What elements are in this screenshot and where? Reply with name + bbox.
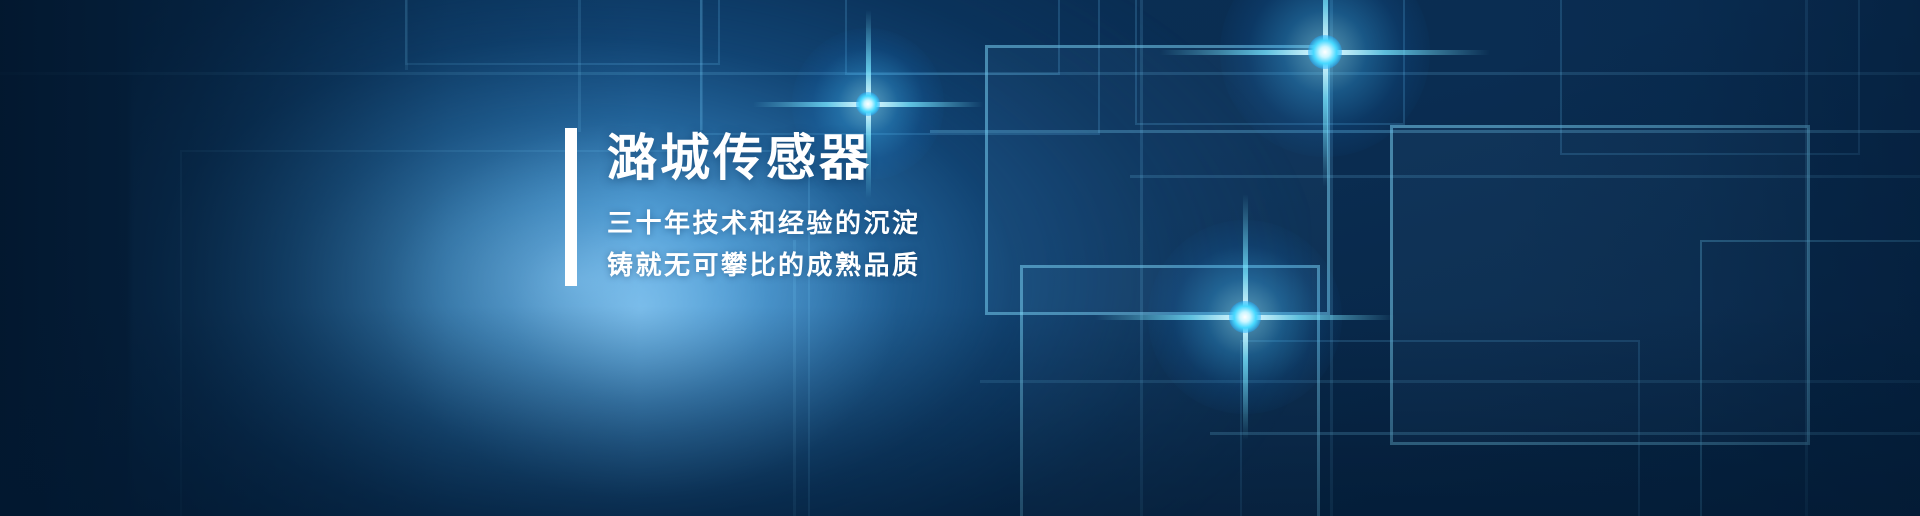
banner-subtitle-line-2: 铸就无可攀比的成熟品质 — [607, 244, 921, 286]
flare-ray-vertical — [1243, 194, 1248, 440]
banner-subtitle-line-1: 三十年技术和经验的沉淀 — [607, 202, 921, 244]
banner-copy: 潞城传感器 三十年技术和经验的沉淀 铸就无可攀比的成熟品质 — [607, 128, 921, 286]
hero-banner: 潞城传感器 三十年技术和经验的沉淀 铸就无可攀比的成熟品质 — [0, 0, 1920, 516]
banner-title: 潞城传感器 — [607, 130, 921, 186]
flare-ray-horizontal — [1095, 315, 1395, 320]
flare-ray-horizontal — [753, 102, 983, 107]
flare-halo — [1148, 220, 1341, 413]
banner-text-block: 潞城传感器 三十年技术和经验的沉淀 铸就无可攀比的成熟品质 — [565, 128, 921, 286]
lens-flare-layer — [0, 0, 1920, 516]
flare-ray-horizontal — [1160, 50, 1490, 55]
flare-core — [1308, 35, 1342, 69]
flare-ray-vertical — [1323, 0, 1328, 187]
accent-bar — [565, 128, 577, 286]
flare-halo — [1220, 0, 1430, 157]
flare-core — [856, 92, 880, 116]
flare-core — [1229, 301, 1260, 332]
